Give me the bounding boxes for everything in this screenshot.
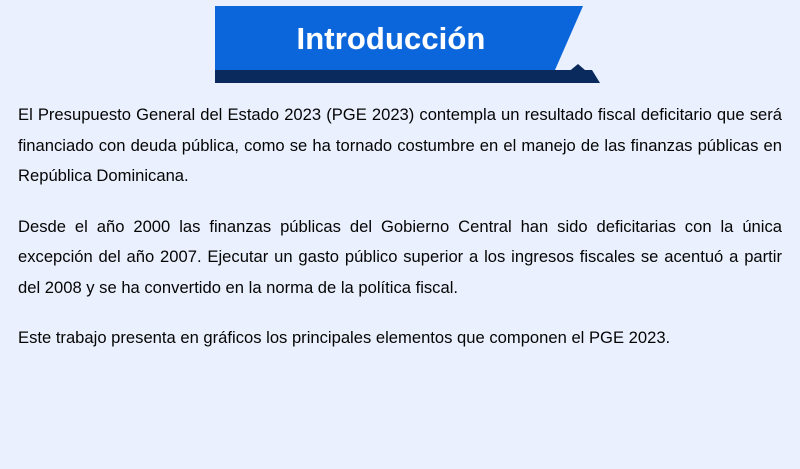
paragraph-2: Desde el año 2000 las finanzas públicas … (18, 212, 782, 304)
body-text-block: El Presupuesto General del Estado 2023 (… (18, 100, 782, 354)
paragraph-1: El Presupuesto General del Estado 2023 (… (18, 100, 782, 192)
section-banner: Introducción (215, 6, 600, 83)
page-title: Introducción (215, 6, 567, 70)
paragraph-3: Este trabajo presenta en gráficos los pr… (18, 323, 782, 354)
banner-shadow-tail (215, 70, 600, 83)
slide-canvas: Introducción El Presupuesto General del … (0, 0, 800, 469)
